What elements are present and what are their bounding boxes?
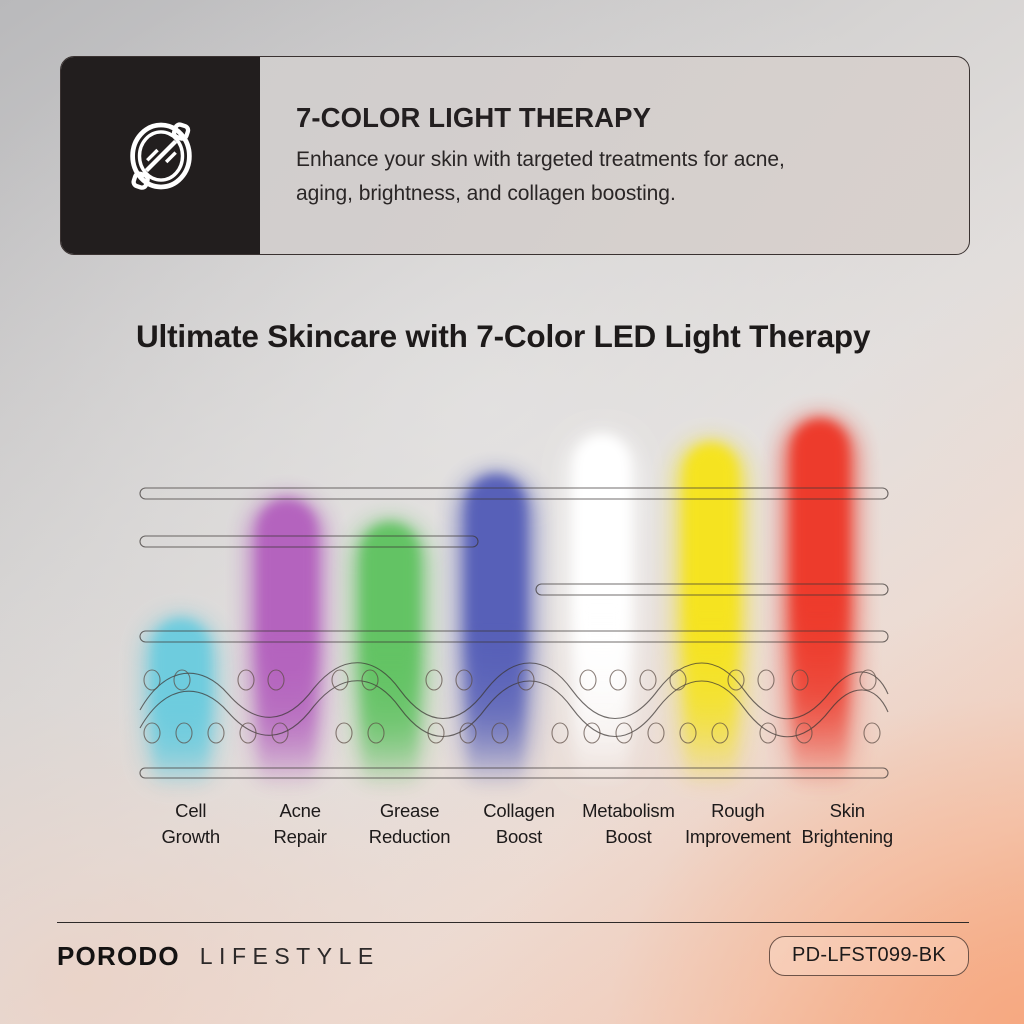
- light-beam-red: [793, 420, 847, 788]
- footer: PORODO LIFESTYLE PD-LFST099-BK: [57, 935, 969, 977]
- light-beam-white: [576, 436, 628, 788]
- beam-label-red: SkinBrightening: [793, 798, 902, 854]
- light-beam-diagram: [136, 388, 896, 788]
- beam-label-line-1: Grease: [355, 798, 464, 824]
- beam-label-line-2: Boost: [464, 824, 573, 850]
- header-title: 7-COLOR LIGHT THERAPY: [296, 104, 943, 132]
- beam-label-yellow: RoughImprovement: [683, 798, 792, 854]
- beam-label-line-2: Brightening: [793, 824, 902, 850]
- brand-subname: LIFESTYLE: [200, 943, 380, 970]
- light-beam-green: [363, 524, 417, 788]
- light-beam-cyan: [154, 620, 208, 788]
- beam-label-white: MetabolismBoost: [574, 798, 683, 854]
- beam-label-line-1: Rough: [683, 798, 792, 824]
- header-subtitle-line-2: aging, brightness, and collagen boosting…: [296, 177, 943, 211]
- main-heading: Ultimate Skincare with 7-Color LED Light…: [136, 318, 870, 355]
- beam-label-green: GreaseReduction: [355, 798, 464, 854]
- beam-label-magenta: AcneRepair: [245, 798, 354, 854]
- beam-label-line-1: Cell: [136, 798, 245, 824]
- led-mirror-device-icon: [118, 113, 204, 199]
- footer-divider: [57, 922, 969, 923]
- model-number-badge: PD-LFST099-BK: [769, 936, 969, 976]
- light-beam-blue: [468, 476, 524, 788]
- beam-label-cyan: CellGrowth: [136, 798, 245, 854]
- light-beam-magenta: [259, 500, 315, 788]
- beam-label-blue: CollagenBoost: [464, 798, 573, 854]
- beam-label-line-1: Collagen: [464, 798, 573, 824]
- beam-label-line-1: Acne: [245, 798, 354, 824]
- feature-header-card: 7-COLOR LIGHT THERAPY Enhance your skin …: [60, 56, 970, 255]
- beam-label-line-2: Repair: [245, 824, 354, 850]
- beam-label-line-2: Improvement: [683, 824, 792, 850]
- beam-label-line-1: Skin: [793, 798, 902, 824]
- header-subtitle-line-1: Enhance your skin with targeted treatmen…: [296, 143, 943, 177]
- light-beam-yellow: [686, 444, 736, 788]
- beam-label-row: CellGrowthAcneRepairGreaseReductionColla…: [136, 798, 902, 854]
- beam-label-line-2: Growth: [136, 824, 245, 850]
- brand-name: PORODO: [57, 941, 180, 972]
- beam-label-line-2: Boost: [574, 824, 683, 850]
- beam-label-line-1: Metabolism: [574, 798, 683, 824]
- beam-label-line-2: Reduction: [355, 824, 464, 850]
- header-text-panel: 7-COLOR LIGHT THERAPY Enhance your skin …: [260, 57, 969, 254]
- header-icon-panel: [61, 57, 260, 254]
